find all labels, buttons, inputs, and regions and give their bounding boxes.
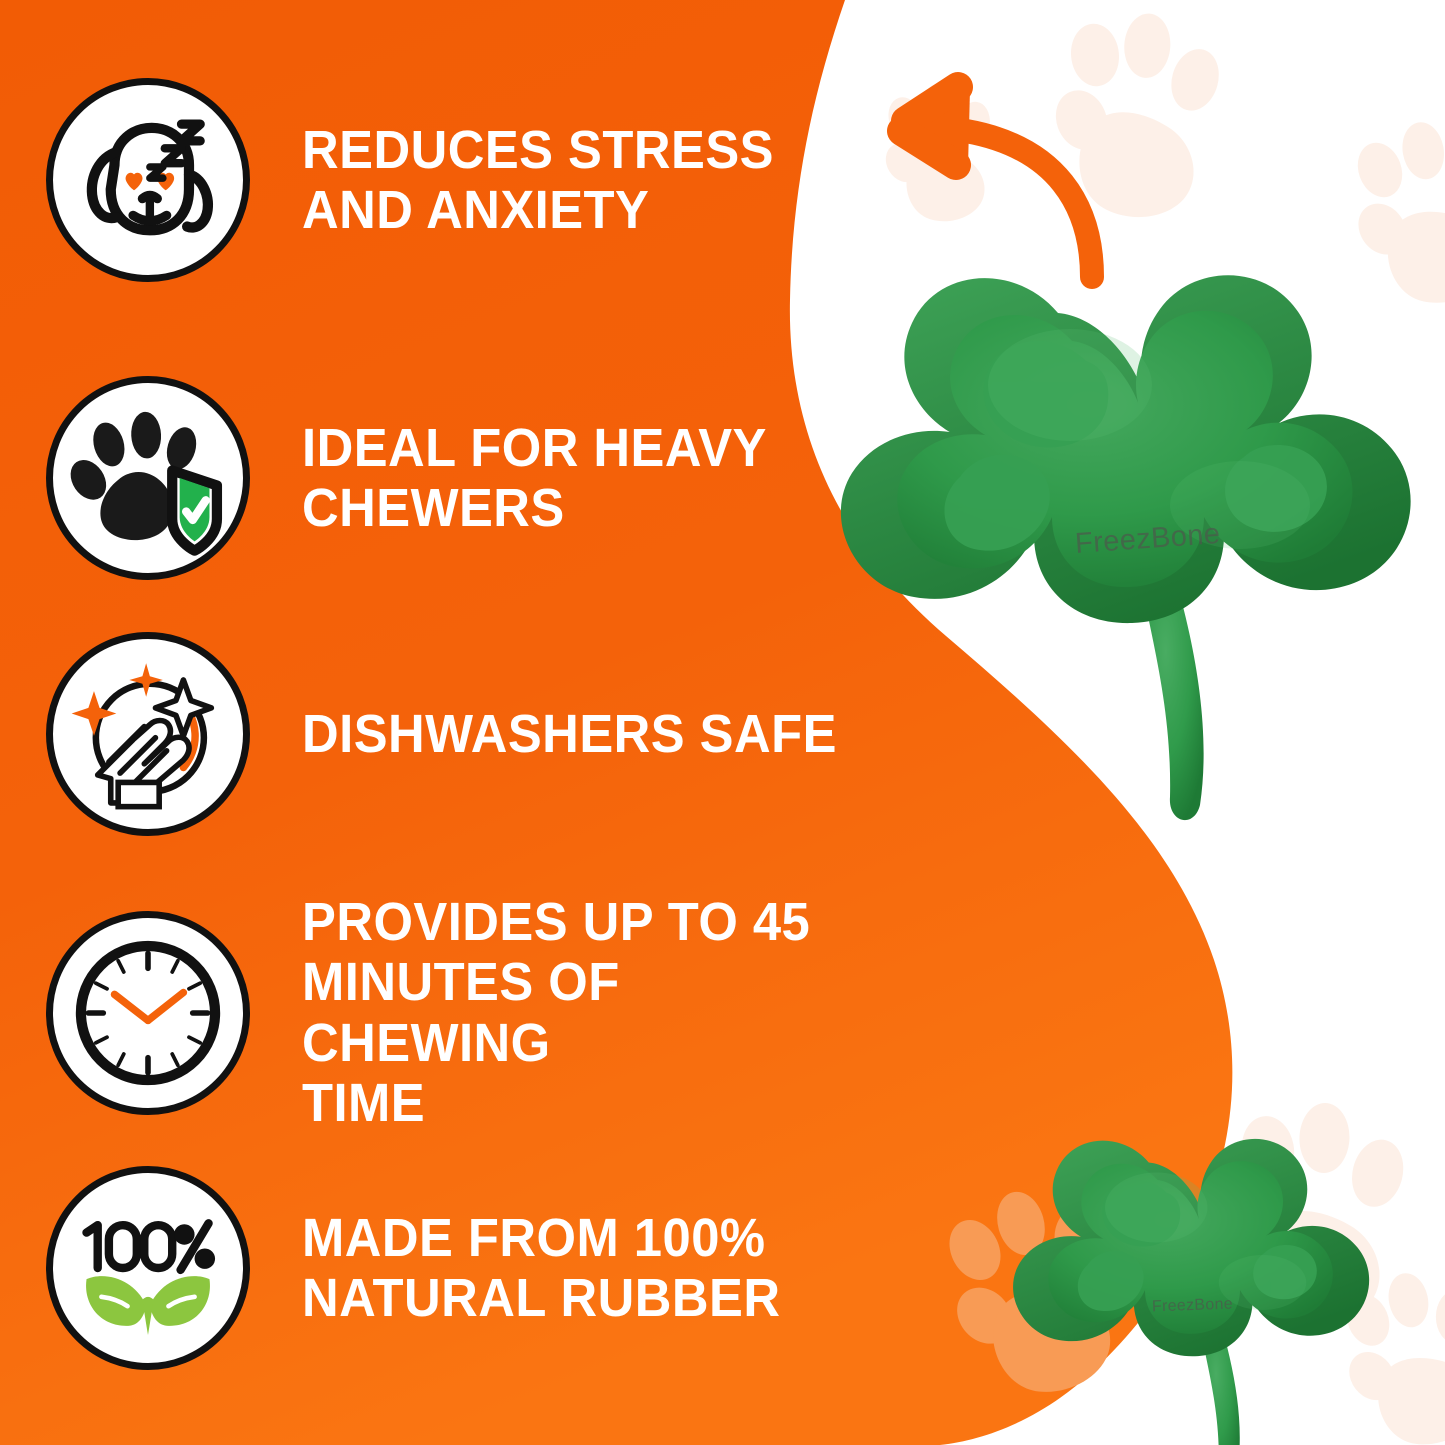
hundred-digits xyxy=(87,1225,173,1268)
feature-row-natural-rubber: MADE FROM 100% NATURAL RUBBER xyxy=(46,1166,811,1370)
hundred-percent-leaf-icon xyxy=(46,1166,250,1370)
feature-row-dishwasher-safe: DISHWASHERS SAFE xyxy=(46,632,871,836)
sleeping-dog-icon xyxy=(46,78,250,282)
clock-icon xyxy=(46,911,250,1115)
feature-row-chewing-time: PROVIDES UP TO 45 MINUTES OF CHEWING TIM… xyxy=(46,892,900,1134)
infographic-canvas: REDUCES STRESS AND ANXIETY xyxy=(0,0,1445,1445)
product-image-shamrock-main: FreezBone xyxy=(820,205,1445,845)
feature-label-chewing-time: PROVIDES UP TO 45 MINUTES OF CHEWING TIM… xyxy=(302,892,864,1134)
leaf-glyph xyxy=(86,1276,210,1335)
feature-label-heavy-chewers: IDEAL FOR HEAVY CHEWERS xyxy=(302,418,767,539)
shamrock-body xyxy=(841,275,1411,623)
product-image-shamrock-secondary: FreezBone xyxy=(1000,1095,1400,1445)
sparkle-icon-orange-small xyxy=(129,663,163,697)
percent-symbol xyxy=(174,1223,215,1270)
feature-row-reduces-stress: REDUCES STRESS AND ANXIETY xyxy=(46,78,804,282)
feature-label-dishwasher-safe: DISHWASHERS SAFE xyxy=(302,704,837,764)
shamrock-body-2 xyxy=(1013,1139,1369,1356)
feature-label-reduces-stress: REDUCES STRESS AND ANXIETY xyxy=(302,120,774,241)
feature-list: REDUCES STRESS AND ANXIETY xyxy=(0,0,900,1445)
paw-shield-icon xyxy=(46,376,250,580)
hand-polish-sparkle-icon xyxy=(46,632,250,836)
feature-row-heavy-chewers: IDEAL FOR HEAVY CHEWERS xyxy=(46,376,797,580)
feature-label-natural-rubber: MADE FROM 100% NATURAL RUBBER xyxy=(302,1208,780,1329)
